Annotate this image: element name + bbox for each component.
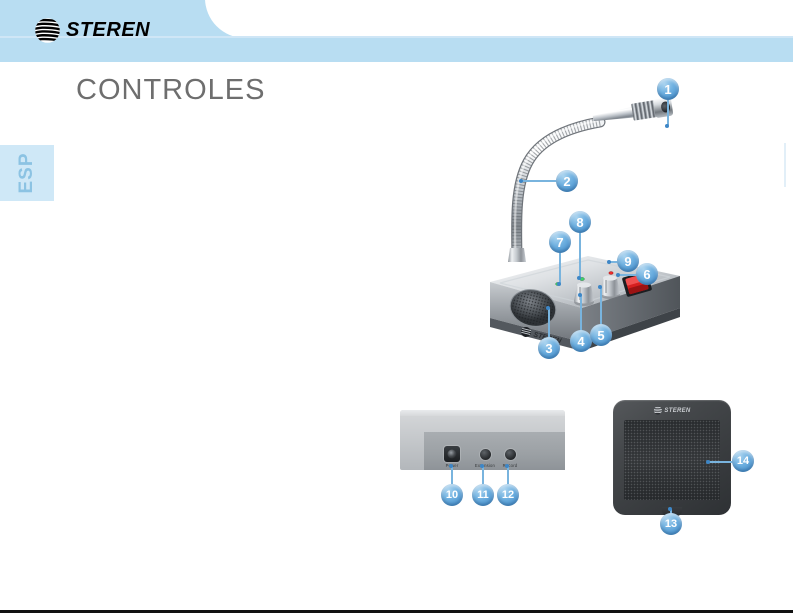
callout-label-4: 4 [577, 335, 584, 348]
callout-point-8 [577, 276, 581, 280]
callout-leader-6 [618, 274, 637, 276]
callout-label-7: 7 [556, 236, 563, 249]
callout-leader-5 [600, 287, 602, 325]
callout-badge-10[interactable]: 10 [441, 484, 463, 506]
callout-label-5: 5 [597, 329, 604, 342]
callout-point-11 [480, 464, 484, 468]
callout-leader-3 [548, 308, 550, 338]
manual-page: STEREN ESP CONTROLES [0, 0, 793, 613]
callout-badge-2[interactable]: 2 [556, 170, 578, 192]
rear-panel-body: Power Extension Record [400, 410, 565, 470]
callout-leader-4 [580, 295, 582, 331]
speaker-steren-emblem-icon [653, 406, 662, 415]
speaker-steren-logo: STEREN [653, 406, 690, 415]
callout-point-14 [706, 460, 710, 464]
callout-point-9 [607, 260, 611, 264]
callout-label-2: 2 [563, 175, 570, 188]
callout-badge-4[interactable]: 4 [570, 330, 592, 352]
speaker-body: STEREN [613, 400, 731, 515]
callout-point-13 [668, 507, 672, 511]
language-tab-esp[interactable]: ESP [0, 145, 54, 201]
steren-wordmark: STEREN [66, 19, 150, 42]
callout-label-12: 12 [502, 490, 514, 501]
callout-leader-2 [521, 180, 557, 182]
callout-label-10: 10 [446, 490, 458, 501]
callout-label-6: 6 [643, 268, 650, 281]
page-title: CONTROLES [76, 74, 265, 107]
callout-label-11: 11 [477, 490, 489, 501]
capsule-tip [653, 97, 674, 119]
callout-label-9: 9 [624, 255, 631, 268]
callout-badge-5[interactable]: 5 [590, 324, 612, 346]
callout-label-13: 13 [665, 519, 677, 530]
callout-badge-12[interactable]: 12 [497, 484, 519, 506]
callout-point-6 [616, 273, 620, 277]
steren-emblem-icon [34, 17, 61, 44]
steren-logo: STEREN [34, 17, 150, 44]
callout-leader-14 [708, 461, 733, 463]
callout-point-2 [519, 179, 523, 183]
callout-label-1: 1 [664, 83, 671, 96]
callout-leader-12 [507, 466, 509, 485]
callout-point-10 [449, 464, 453, 468]
callout-badge-6[interactable]: 6 [636, 263, 658, 285]
callout-badge-8[interactable]: 8 [569, 211, 591, 233]
callout-leader-11 [482, 466, 484, 485]
language-tab-label: ESP [16, 152, 38, 193]
power-jack[interactable] [444, 446, 460, 462]
callout-badge-11[interactable]: 11 [472, 484, 494, 506]
callout-point-4 [578, 293, 582, 297]
callout-label-8: 8 [576, 216, 583, 229]
capsule-cone [592, 106, 635, 123]
callout-point-12 [505, 464, 509, 468]
callout-badge-9[interactable]: 9 [617, 250, 639, 272]
callout-badge-3[interactable]: 3 [538, 337, 560, 359]
callout-leader-8 [579, 233, 581, 277]
callout-point-7 [557, 282, 561, 286]
extension-jack[interactable] [480, 449, 491, 460]
header-white-notch [205, 0, 793, 38]
callout-leader-7 [559, 253, 561, 283]
record-jack-label: Record [493, 463, 527, 468]
callout-point-1 [665, 124, 669, 128]
callout-leader-1 [667, 100, 669, 125]
record-jack[interactable] [505, 449, 516, 460]
callout-leader-10 [451, 466, 453, 485]
right-edge-rule [784, 143, 786, 187]
callout-point-3 [546, 306, 550, 310]
rear-panel-top-highlight [400, 410, 565, 416]
callout-label-3: 3 [545, 342, 552, 355]
callout-point-5 [598, 285, 602, 289]
callout-badge-1[interactable]: 1 [657, 78, 679, 100]
callout-badge-7[interactable]: 7 [549, 231, 571, 253]
speaker-brand-label: STEREN [664, 408, 690, 414]
callout-badge-13[interactable]: 13 [660, 513, 682, 535]
callout-label-14: 14 [737, 456, 749, 467]
callout-badge-14[interactable]: 14 [732, 450, 754, 472]
